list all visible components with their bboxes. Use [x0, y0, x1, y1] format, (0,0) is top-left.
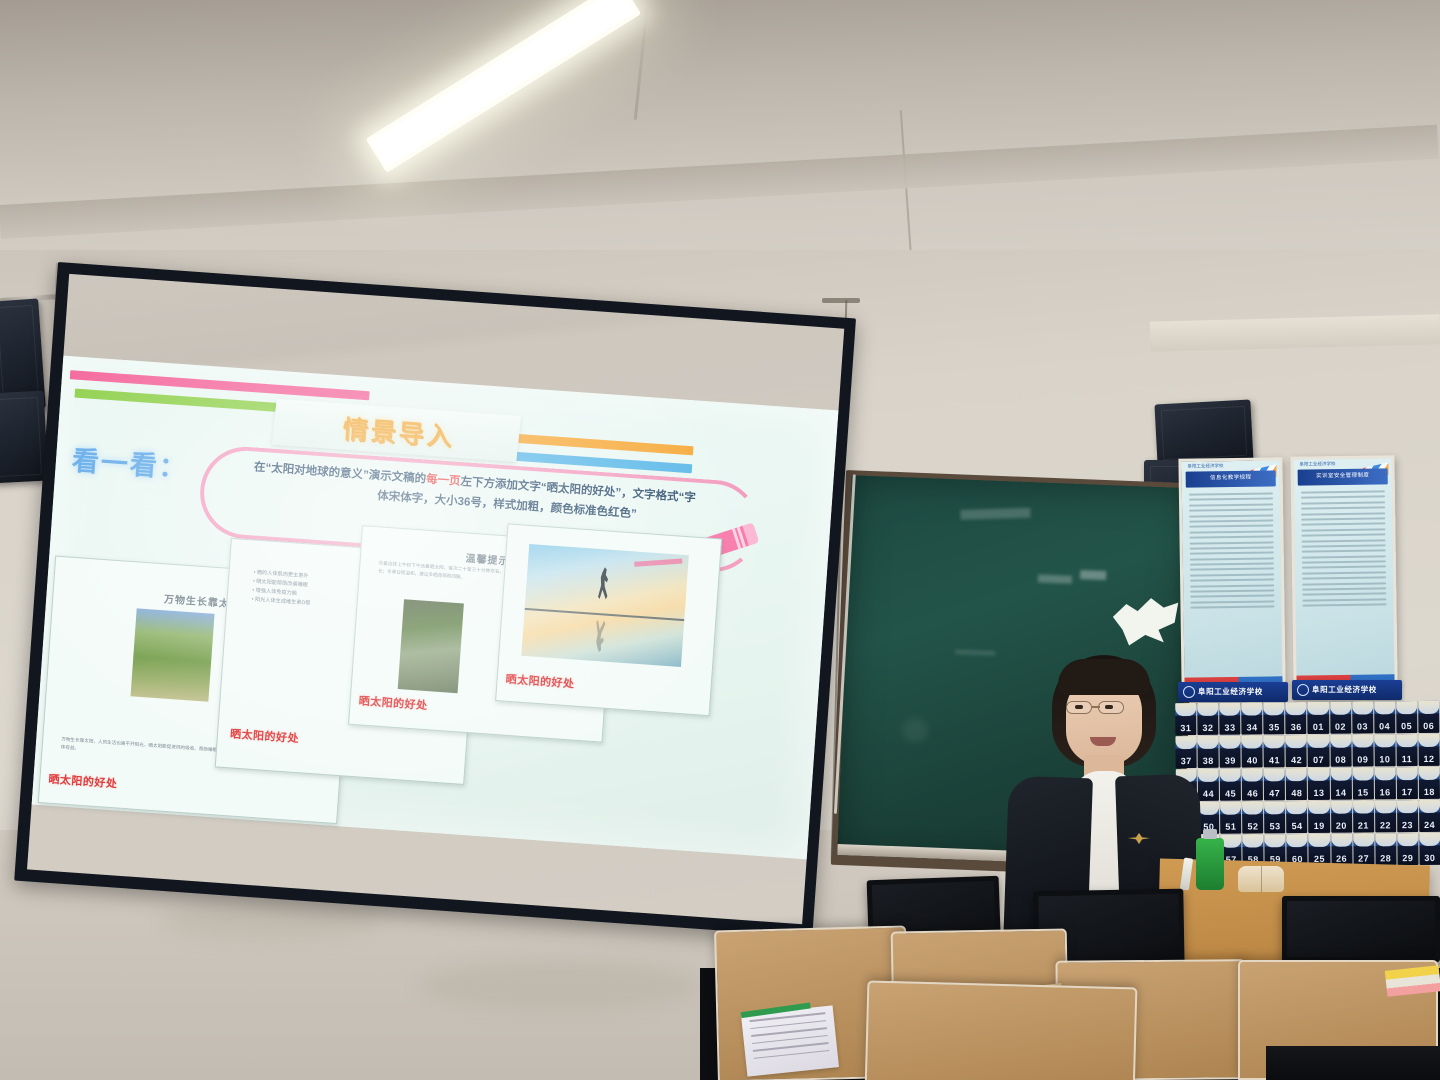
pocket-number: 28 [1375, 853, 1396, 863]
pocket-flap [1330, 702, 1351, 715]
pocket-flap [1286, 801, 1307, 814]
bulletin-header-bar: 实训室安全管理制度 [1298, 468, 1388, 485]
father-child-photo [398, 599, 464, 693]
prompt-label: 看一看： [71, 439, 189, 486]
phone-pocket[interactable]: 33 [1219, 703, 1240, 735]
pocket-number: 46 [1242, 788, 1263, 798]
pocket-number: 16 [1375, 787, 1396, 797]
phone-pocket[interactable]: 29 [1397, 833, 1418, 865]
phone-pocket[interactable]: 03 [1352, 701, 1373, 733]
wall-speaker-right [1154, 400, 1253, 467]
pocket-number: 27 [1353, 853, 1374, 863]
pocket-flap [1418, 701, 1439, 714]
pocket-flap [1396, 767, 1417, 780]
classroom-scene: 阜阳工业经济学校 信息化教学规程 阜阳工业经济学校 实训室安全管理制度 阜阳工业… [0, 0, 1440, 1080]
pocket-flap [1264, 801, 1285, 814]
pocket-flap [1352, 701, 1373, 714]
phone-pocket[interactable]: 14 [1330, 768, 1351, 800]
pocket-number: 36 [1286, 722, 1307, 732]
pocket-flap [1419, 767, 1440, 780]
phone-pocket[interactable]: 34 [1241, 702, 1262, 734]
pocket-flap [1220, 736, 1241, 749]
phone-pocket[interactable]: 23 [1397, 800, 1418, 832]
pocket-number: 13 [1308, 788, 1329, 798]
task-highlight: 每一页 [426, 474, 461, 488]
pocket-number: 39 [1220, 756, 1241, 766]
pocket-number: 14 [1330, 788, 1351, 798]
pocket-number: 02 [1330, 722, 1351, 732]
pocket-number: 03 [1352, 721, 1373, 731]
pocket-flap [1330, 735, 1351, 748]
bulletin-board-2: 阜阳工业经济学校 实训室安全管理制度 [1290, 455, 1397, 684]
pocket-flap [1308, 768, 1329, 781]
pocket-number: 42 [1286, 755, 1307, 765]
pocket-number: 21 [1353, 820, 1374, 830]
pocket-row: 434445464748131415161718 [1176, 767, 1440, 801]
phone-pocket[interactable]: 30 [1419, 833, 1440, 865]
paper-sheet [741, 1005, 839, 1076]
phone-pocket[interactable]: 52 [1242, 801, 1263, 833]
phone-pocket[interactable]: 51 [1220, 802, 1241, 834]
phone-pocket[interactable]: 21 [1353, 800, 1374, 832]
phone-pocket[interactable]: 12 [1418, 734, 1439, 766]
pocket-flap [1242, 801, 1263, 814]
pocket-number: 15 [1353, 787, 1374, 797]
phone-pocket[interactable]: 16 [1374, 767, 1395, 799]
phone-pocket[interactable]: 17 [1396, 767, 1417, 799]
pocket-number: 01 [1308, 722, 1329, 732]
pocket-number: 12 [1418, 754, 1439, 764]
phone-pocket[interactable]: 08 [1330, 735, 1351, 767]
thumb-caption: 晒太阳的好处 [358, 692, 428, 713]
pocket-number: 19 [1309, 821, 1330, 831]
bulletin-text-lines [1189, 492, 1275, 665]
pocket-number: 34 [1242, 722, 1263, 732]
phone-pocket[interactable]: 02 [1330, 702, 1351, 734]
runner-sunset-photo [521, 544, 689, 667]
bulletin-board-1: 阜阳工业经济学校 信息化教学规程 [1178, 457, 1285, 686]
pocket-number: 52 [1242, 821, 1263, 831]
phone-pocket[interactable]: 39 [1220, 736, 1241, 768]
pocket-flap [1265, 834, 1286, 847]
pocket-flap [1375, 800, 1396, 813]
pocket-number: 33 [1219, 723, 1240, 733]
phone-pocket[interactable]: 11 [1396, 734, 1417, 766]
pocket-flap [1397, 800, 1418, 813]
phone-pocket[interactable]: 40 [1242, 735, 1263, 767]
pocket-flap [1308, 735, 1329, 748]
keyboard[interactable] [1266, 1046, 1440, 1080]
phone-pocket[interactable]: 48 [1286, 768, 1307, 800]
pocket-flap [1263, 702, 1284, 715]
pocket-number: 53 [1264, 821, 1285, 831]
bulletin-header-bar: 信息化教学规程 [1186, 470, 1276, 487]
phone-pocket[interactable]: 10 [1374, 734, 1395, 766]
pocket-flap [1419, 800, 1440, 813]
projector-screen: 情景导入 看一看： 在“太阳对地球的意义”演示文稿的每一页左下方添加文字“晒太阳… [14, 262, 856, 937]
phone-pocket[interactable]: 26 [1331, 834, 1352, 866]
pocket-flap [1353, 800, 1374, 813]
desk-partition-front [865, 980, 1138, 1080]
pocket-number: 08 [1330, 755, 1351, 765]
ceiling-seam [634, 0, 650, 120]
pocket-flap [1287, 834, 1308, 847]
pocket-flap [1374, 767, 1395, 780]
pocket-flap [1396, 701, 1417, 714]
wall-speaker-left-lower [0, 391, 48, 484]
pocket-number: 17 [1397, 787, 1418, 797]
phone-pocket[interactable]: 01 [1308, 702, 1329, 734]
pocket-row: 313233343536010203040506 [1175, 701, 1439, 735]
phone-pocket[interactable]: 27 [1353, 833, 1374, 865]
ceiling-beam [0, 125, 1439, 239]
pocket-number: 45 [1220, 789, 1241, 799]
paper-stack [1385, 965, 1440, 997]
school-name: 阜阳工业经济学校 [1312, 684, 1377, 695]
bulletin-supertitle: 阜阳工业经济学校 [1187, 463, 1223, 470]
pocket-flap [1331, 801, 1352, 814]
phone-pocket[interactable]: 41 [1264, 735, 1285, 767]
bulletin-supertitle: 阜阳工业经济学校 [1299, 461, 1335, 468]
pocket-number: 54 [1287, 821, 1308, 831]
pocket-flap [1242, 735, 1263, 748]
pocket-number: 48 [1286, 788, 1307, 798]
projected-slide: 情景导入 看一看： 在“太阳对地球的意义”演示文稿的每一页左下方添加文字“晒太阳… [32, 356, 839, 860]
phone-pocket[interactable]: 04 [1374, 701, 1395, 733]
pocket-flap [1352, 767, 1373, 780]
thumb-caption: 晒太阳的好处 [230, 725, 300, 746]
phone-pocket[interactable]: 06 [1418, 701, 1439, 733]
pocket-flap [1353, 833, 1374, 846]
slide-thumbnail-4: 晒太阳的好处 [495, 523, 722, 716]
pocket-flap [1352, 734, 1373, 747]
bulletin-header-text: 信息化教学规程 [1186, 472, 1276, 481]
pocket-flap [1286, 768, 1307, 781]
pocket-flap [1330, 768, 1351, 781]
pocket-flap [1220, 769, 1241, 782]
school-name: 阜阳工业经济学校 [1198, 686, 1263, 697]
pocket-flap [1264, 735, 1285, 748]
pocket-number: 30 [1419, 853, 1440, 863]
screen-surface: 情景导入 看一看： 在“太阳对地球的意义”演示文稿的每一页左下方添加文字“晒太阳… [27, 274, 844, 924]
pocket-number: 09 [1352, 754, 1373, 764]
phone-pocket[interactable]: 46 [1242, 768, 1263, 800]
pocket-flap [1331, 834, 1352, 847]
phone-pocket[interactable]: 53 [1264, 801, 1285, 833]
phone-pocket[interactable]: 18 [1419, 767, 1440, 799]
pocket-flap [1220, 802, 1241, 815]
thumb-caption: 晒太阳的好处 [505, 671, 575, 692]
student-desks [0, 880, 1440, 1080]
pocket-number: 18 [1419, 787, 1440, 797]
phone-pocket[interactable]: 47 [1264, 768, 1285, 800]
pocket-flap [1374, 734, 1395, 747]
phone-pocket[interactable]: 19 [1308, 801, 1329, 833]
phone-pocket[interactable]: 09 [1352, 734, 1373, 766]
school-logo-icon [1297, 684, 1309, 696]
pocket-flap [1308, 801, 1329, 814]
bulletin-header-text: 实训室安全管理制度 [1298, 470, 1388, 479]
phone-pocket[interactable]: 25 [1309, 834, 1330, 866]
phone-pocket[interactable]: 07 [1308, 735, 1329, 767]
thumb-caption: 晒太阳的好处 [48, 771, 118, 792]
pocket-flap [1241, 702, 1262, 715]
phone-pocket[interactable]: 24 [1419, 800, 1440, 832]
pocket-number: 11 [1396, 754, 1417, 764]
phone-pocket[interactable]: 54 [1286, 801, 1307, 833]
phone-pocket[interactable]: 13 [1308, 768, 1329, 800]
school-name-plate-2: 阜阳工业经济学校 [1292, 680, 1402, 700]
bulletin-text-lines [1301, 490, 1387, 663]
pocket-flap [1242, 768, 1263, 781]
phone-pocket[interactable]: 28 [1375, 833, 1396, 865]
pocket-flap [1419, 833, 1440, 846]
pocket-flap [1308, 702, 1329, 715]
pocket-flap [1219, 703, 1240, 716]
pocket-row: 373839404142070809101112 [1175, 734, 1439, 768]
monitor [1282, 896, 1440, 962]
pocket-number: 04 [1374, 721, 1395, 731]
pocket-number: 05 [1396, 721, 1417, 731]
pocket-number: 06 [1418, 721, 1439, 731]
phone-pocket[interactable]: 42 [1286, 735, 1307, 767]
pocket-flap [1374, 701, 1395, 714]
pocket-flap [1286, 735, 1307, 748]
chalk-erase-mark [1107, 593, 1181, 652]
phone-pocket[interactable]: 20 [1331, 801, 1352, 833]
pocket-number: 20 [1331, 821, 1352, 831]
pocket-flap [1418, 734, 1439, 747]
pocket-number: 41 [1264, 755, 1285, 765]
ceiling-hook [822, 298, 860, 303]
pocket-flap [1309, 834, 1330, 847]
pocket-number: 40 [1242, 755, 1263, 765]
pocket-number: 35 [1264, 722, 1285, 732]
pocket-flap [1243, 834, 1264, 847]
pocket-number: 51 [1220, 822, 1241, 832]
pocket-number: 24 [1419, 820, 1440, 830]
phone-pocket[interactable]: 05 [1396, 701, 1417, 733]
bullet-item: 阳光人体生成维生素D帮 [255, 597, 311, 607]
pocket-flap [1397, 833, 1418, 846]
thumb-body: 万物生长靠太阳，人的生活也离不开阳光，晒太阳能促进钙的吸收、帮助睡眠，对身体有益… [61, 735, 232, 762]
pocket-number: 22 [1375, 820, 1396, 830]
phone-pocket[interactable]: 22 [1375, 800, 1396, 832]
phone-pocket[interactable]: 15 [1352, 767, 1373, 799]
phone-pocket[interactable]: 36 [1286, 702, 1307, 734]
pocket-number: 47 [1264, 788, 1285, 798]
phone-pocket[interactable]: 35 [1263, 702, 1284, 734]
pocket-flap [1286, 702, 1307, 715]
pocket-number: 07 [1308, 755, 1329, 765]
pocket-number: 10 [1374, 754, 1395, 764]
pocket-flap [1264, 768, 1285, 781]
pocket-flap [1375, 833, 1396, 846]
pocket-number: 29 [1397, 853, 1418, 863]
pocket-number: 23 [1397, 820, 1418, 830]
phone-pocket[interactable]: 45 [1220, 769, 1241, 801]
pocket-flap [1396, 734, 1417, 747]
park-path-photo [131, 608, 215, 701]
